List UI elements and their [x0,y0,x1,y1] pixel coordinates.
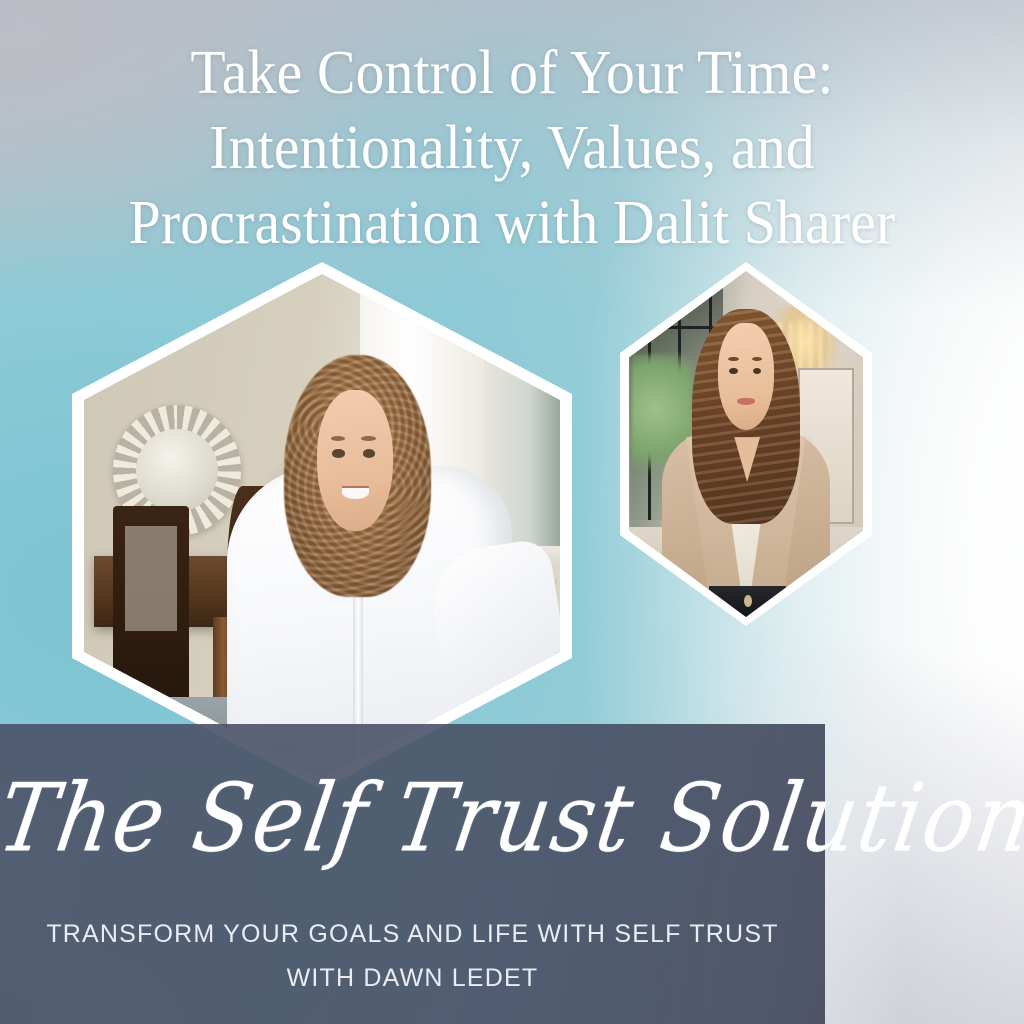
photo-host-face [718,323,774,430]
show-tagline-line-2: WITH DAWN LEDET [0,956,825,1000]
photo-host-eye-right [753,368,761,374]
host-portrait-right-photo [629,271,863,617]
photo-host-eyebrow-right [752,357,763,361]
show-tagline-line-1: TRANSFORM YOUR GOALS AND LIFE WITH SELF … [0,912,825,956]
photo-host-lips [737,398,755,406]
show-branding-banner: The Self Trust Solution TRANSFORM YOUR G… [0,724,825,1024]
show-name: The Self Trust Solution [0,764,834,872]
episode-title-line-3: Procrastination with Dalit Sharer [36,186,988,261]
photo-eyebrow-right [361,436,375,441]
photo-smile [342,486,369,499]
photo-chair-seat [125,526,177,631]
photo-host-eyebrow-left [728,357,739,361]
photo-eye-left [332,449,344,457]
show-tagline: TRANSFORM YOUR GOALS AND LIFE WITH SELF … [0,912,825,1000]
photo-dining-chair-1 [113,506,189,708]
episode-title: Take Control of Your Time: Intentionalit… [36,36,988,261]
podcast-episode-cover: Take Control of Your Time: Intentionalit… [0,0,1024,1024]
photo-eye-right [363,449,375,457]
episode-title-line-1: Take Control of Your Time: [36,36,988,111]
photo-eyebrow-left [331,436,345,441]
photo-belt-buckle [744,595,752,607]
photo-mirror-glass [136,429,218,513]
photo-face [317,390,393,531]
photo-lobby-scene [629,271,863,617]
episode-title-line-2: Intentionality, Values, and [36,111,988,186]
photo-host-eye-left [729,368,737,374]
